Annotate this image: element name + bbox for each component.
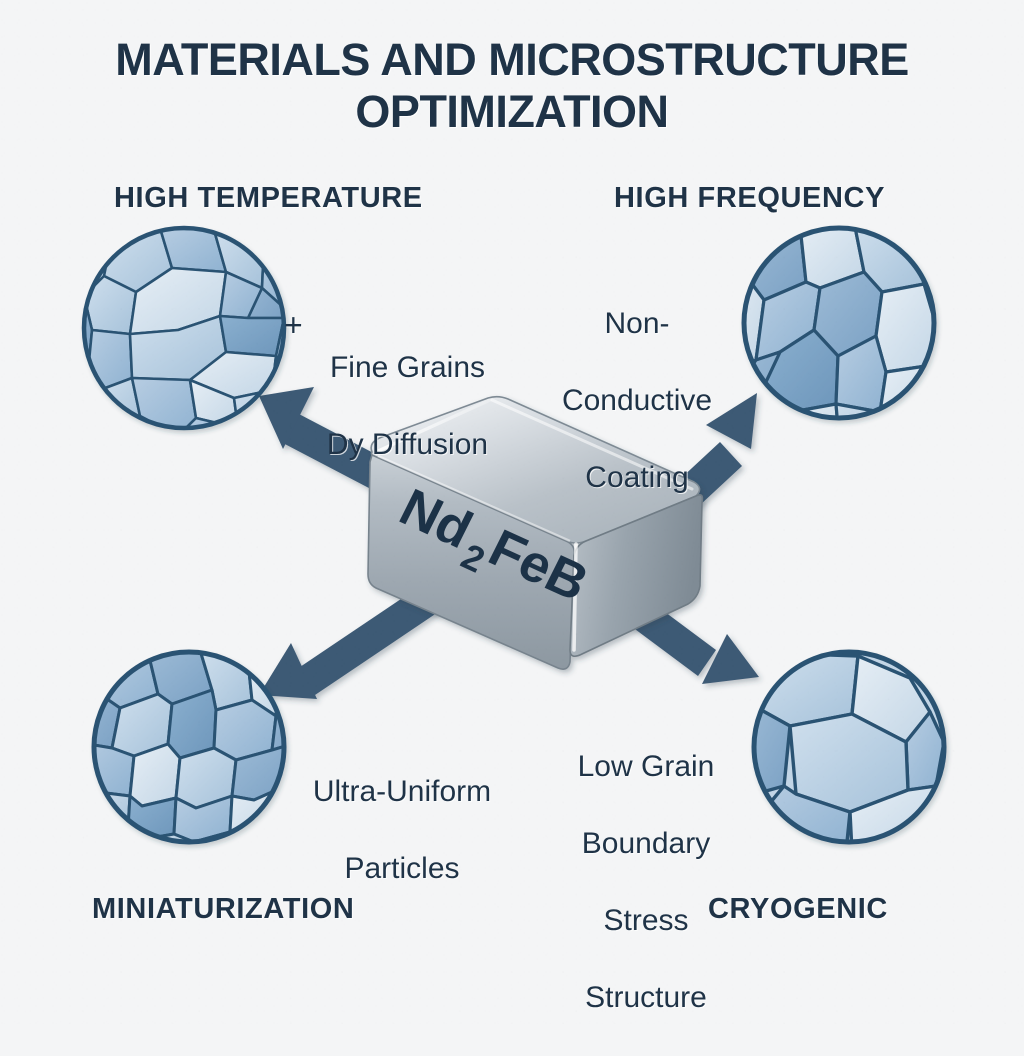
annotation-line: Non- bbox=[548, 305, 726, 343]
microstructure-high-temperature bbox=[76, 228, 292, 474]
annotation-plus-sign: + bbox=[284, 305, 303, 346]
diagram-canvas: MATERIALS AND MICROSTRUCTURE OPTIMIZATIO… bbox=[0, 0, 1024, 1024]
annotation-line: Structure bbox=[556, 979, 736, 1017]
quadrant-label-high-frequency: HIGH FREQUENCY bbox=[614, 182, 885, 215]
annotation-line: Boundary bbox=[556, 825, 736, 863]
annotation-line: Fine Grains bbox=[300, 349, 515, 387]
annotation-miniaturization: Ultra-Uniform Particles bbox=[292, 735, 512, 927]
microstructure-high-frequency bbox=[726, 222, 938, 490]
annotation-high-frequency: Non- Conductive Coating bbox=[548, 267, 726, 536]
annotation-line: Conductive bbox=[548, 382, 726, 420]
microstructure-miniaturization bbox=[74, 650, 296, 858]
quadrant-label-high-temperature: HIGH TEMPERATURE bbox=[114, 182, 423, 215]
annotation-line: Dy Diffusion bbox=[300, 426, 515, 464]
annotation-line: Low Grain bbox=[556, 748, 736, 786]
annotation-line: Stress bbox=[556, 902, 736, 940]
annotation-line: Particles bbox=[292, 850, 512, 888]
annotation-high-temperature: + Fine Grains Dy Diffusion bbox=[300, 272, 515, 502]
microstructure-cryogenic bbox=[742, 652, 944, 872]
diagram-graphics: Nd 2 FeB bbox=[0, 0, 1024, 1024]
annotation-line: Ultra-Uniform bbox=[292, 773, 512, 811]
annotation-cryogenic: Low Grain Boundary Stress Structure bbox=[556, 710, 736, 1056]
annotation-line: Coating bbox=[548, 459, 726, 497]
